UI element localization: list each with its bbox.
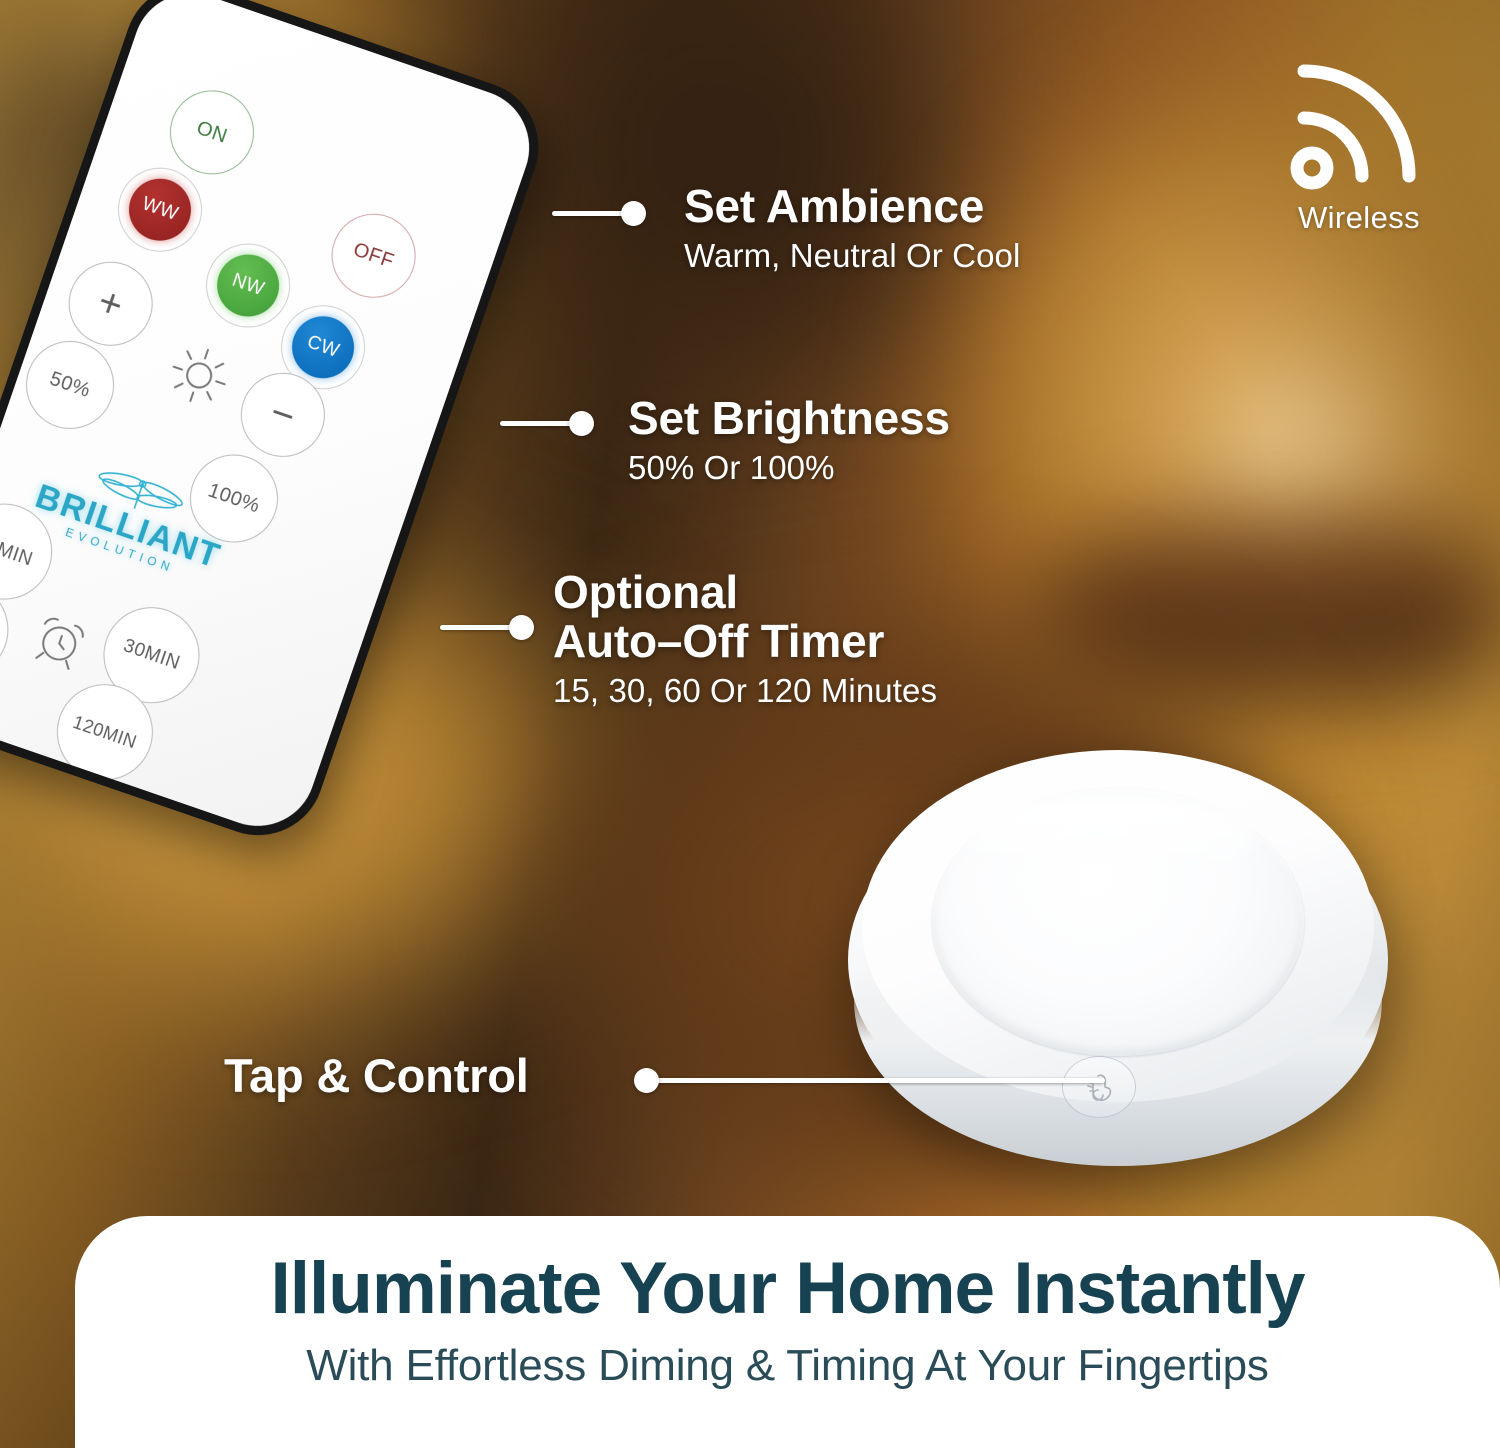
callout-tap-control: Tap & Control <box>224 1051 529 1101</box>
bottom-banner: Illuminate Your Home Instantly With Effo… <box>75 1216 1500 1448</box>
callout-set-ambience: Set Ambience Warm, Neutral Or Cool <box>684 182 1020 275</box>
leader-line-tap <box>650 1078 1105 1083</box>
remote-button-ww[interactable]: WW <box>107 156 214 263</box>
remote-button-off[interactable]: OFF <box>320 202 427 309</box>
sun-brightness-icon <box>160 336 239 415</box>
callout-subtitle-ambience: Warm, Neutral Or Cool <box>684 237 1020 275</box>
wireless-badge: Wireless <box>1264 46 1454 236</box>
leader-dot-brightness <box>569 411 594 436</box>
leader-dot-timer <box>509 615 534 640</box>
remote-button-nw[interactable]: NW <box>195 232 302 339</box>
leader-line-ambience <box>552 211 626 216</box>
leader-dot-tap <box>634 1068 659 1093</box>
callout-subtitle-timer: 15, 30, 60 Or 120 Minutes <box>553 672 937 710</box>
banner-subhead: With Effortless Diming & Timing At Your … <box>75 1341 1500 1391</box>
puck-light-product <box>848 740 1388 1170</box>
callout-title-ambience: Set Ambience <box>684 182 1020 231</box>
banner-headline: Illuminate Your Home Instantly <box>75 1252 1500 1325</box>
callout-subtitle-brightness: 50% Or 100% <box>628 449 950 487</box>
callout-title-timer-line1: Optional <box>553 568 937 617</box>
wireless-signal-icon <box>1284 46 1434 196</box>
puck-light-highlight <box>968 798 1258 882</box>
leader-dot-ambience <box>621 201 646 226</box>
leader-line-timer <box>440 625 514 630</box>
callout-set-brightness: Set Brightness 50% Or 100% <box>628 394 950 487</box>
tap-sensor-badge[interactable] <box>1062 1056 1136 1118</box>
callout-title-timer-line2: Auto–Off Timer <box>553 617 937 666</box>
leader-line-brightness <box>500 421 574 426</box>
callout-auto-off-timer: Optional Auto–Off Timer 15, 30, 60 Or 12… <box>553 568 937 710</box>
tap-hand-icon <box>1079 1068 1119 1106</box>
alarm-clock-icon <box>20 602 99 681</box>
callout-title-brightness: Set Brightness <box>628 394 950 443</box>
callout-title-tap: Tap & Control <box>224 1051 529 1101</box>
wireless-label: Wireless <box>1264 200 1454 236</box>
